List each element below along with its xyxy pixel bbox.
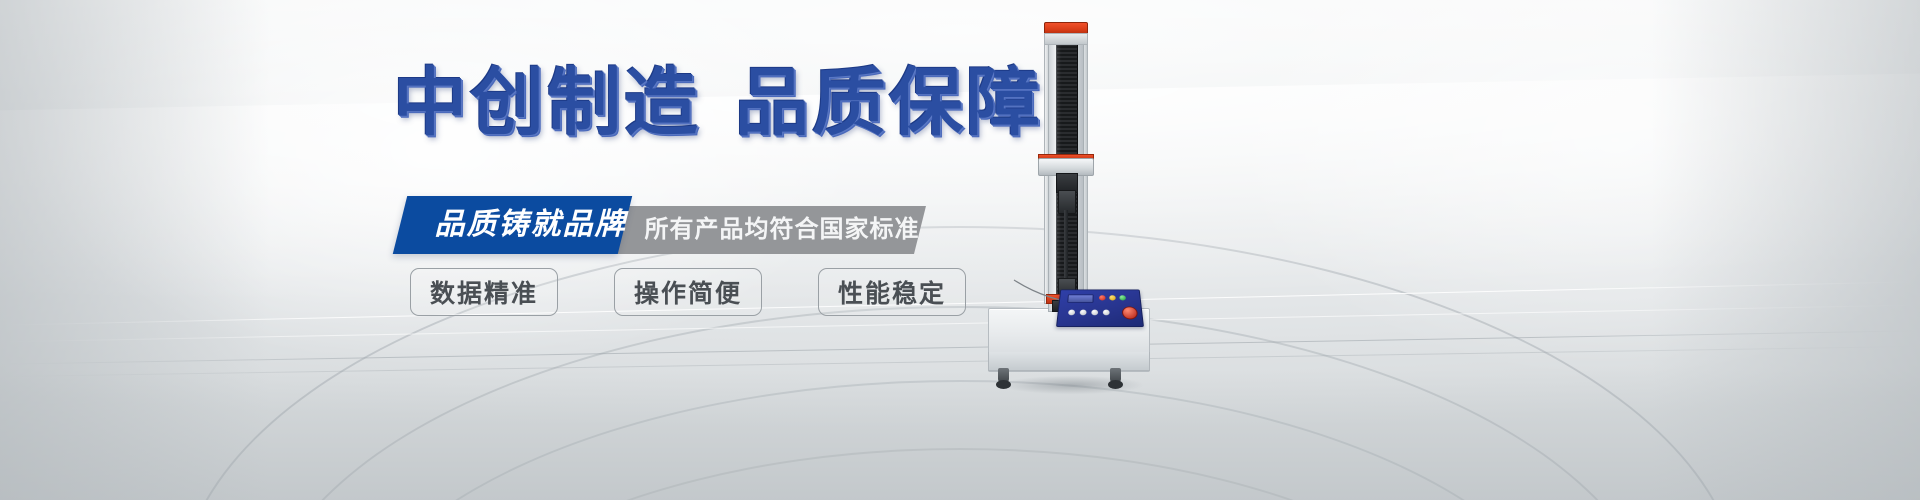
machine-base-front (988, 352, 1150, 371)
feature-pill-stability: 性能稳定 (818, 268, 966, 316)
feature-pill-label: 性能稳定 (838, 274, 946, 310)
feature-pill-ease-of-use: 操作简便 (614, 268, 762, 316)
caster-wheel-right (1108, 380, 1123, 389)
caster-wheel-left (996, 380, 1011, 389)
banner-headline: 中创制造品质保障 (393, 57, 1043, 149)
test-specimen (1064, 210, 1068, 282)
panel-display (1067, 295, 1093, 303)
emergency-stop-button[interactable] (1122, 307, 1138, 320)
panel-indicator-red[interactable] (1099, 295, 1106, 300)
feature-pill-label: 操作简便 (634, 274, 742, 310)
control-panel[interactable] (1056, 290, 1144, 327)
feature-pill-accuracy: 数据精准 (410, 268, 558, 316)
panel-indicator-green[interactable] (1119, 295, 1126, 300)
blue-badge-label: 品质铸就品牌 (418, 196, 643, 254)
promotional-banner: 中创制造品质保障 所有产品均符合国家标准 品质铸就品牌 数据精准 操作简便 性能… (0, 0, 1920, 500)
panel-indicator-yellow[interactable] (1109, 295, 1116, 300)
panel-button-1[interactable] (1068, 310, 1075, 316)
feature-pill-list: 数据精准 操作简便 性能稳定 (410, 268, 966, 316)
grey-badge-label: 所有产品均符合国家标准 (632, 206, 932, 254)
column-top-collar (1044, 33, 1088, 45)
panel-button-2[interactable] (1080, 310, 1087, 316)
feature-pill-label: 数据精准 (430, 274, 538, 310)
banner-content: 中创制造品质保障 所有产品均符合国家标准 品质铸就品牌 数据精准 操作简便 性能… (0, 0, 1000, 500)
headline-part-1: 中创制造 (393, 61, 701, 144)
panel-button-4[interactable] (1103, 310, 1110, 316)
product-testing-machine (960, 0, 1180, 500)
panel-button-3[interactable] (1091, 310, 1098, 316)
